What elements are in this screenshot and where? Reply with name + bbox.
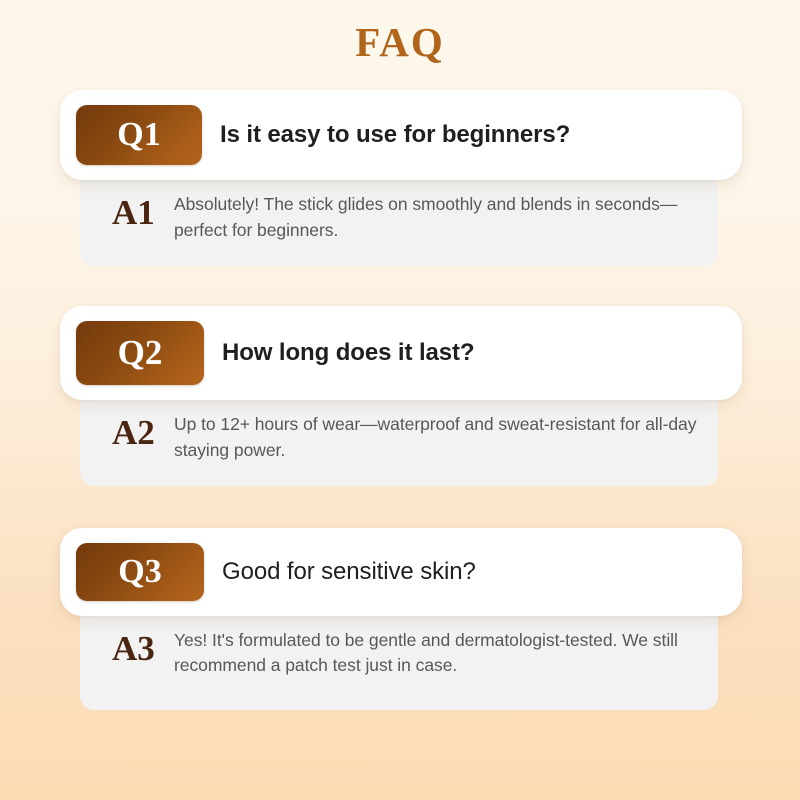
faq-list: Q1 Is it easy to use for beginners? A1 A… xyxy=(0,90,800,710)
question-card[interactable]: Q2 How long does it last? xyxy=(60,306,742,400)
answer-text: Up to 12+ hours of wear—waterproof and s… xyxy=(174,410,698,464)
answer-text: Yes! It's formulated to be gentle and de… xyxy=(174,626,698,680)
answer-panel: A3 Yes! It's formulated to be gentle and… xyxy=(80,600,718,710)
faq-page: FAQ Q1 Is it easy to use for beginners? … xyxy=(0,0,800,800)
faq-item: Q2 How long does it last? A2 Up to 12+ h… xyxy=(0,306,800,486)
answer-number-label: A2 xyxy=(100,410,174,450)
faq-item: Q3 Good for sensitive skin? A3 Yes! It's… xyxy=(0,528,800,710)
question-card[interactable]: Q3 Good for sensitive skin? xyxy=(60,528,742,616)
answer-number-label: A3 xyxy=(100,626,174,666)
question-number-badge: Q3 xyxy=(76,543,204,601)
answer-text: Absolutely! The stick glides on smoothly… xyxy=(174,190,698,244)
answer-number-label: A1 xyxy=(100,190,174,230)
question-text: Good for sensitive skin? xyxy=(222,557,476,586)
question-card[interactable]: Q1 Is it easy to use for beginners? xyxy=(60,90,742,180)
question-text: How long does it last? xyxy=(222,338,474,367)
page-title: FAQ xyxy=(0,20,800,65)
question-text: Is it easy to use for beginners? xyxy=(220,120,570,149)
question-number-badge: Q2 xyxy=(76,321,204,385)
question-number-badge: Q1 xyxy=(76,105,202,165)
faq-item: Q1 Is it easy to use for beginners? A1 A… xyxy=(0,90,800,266)
